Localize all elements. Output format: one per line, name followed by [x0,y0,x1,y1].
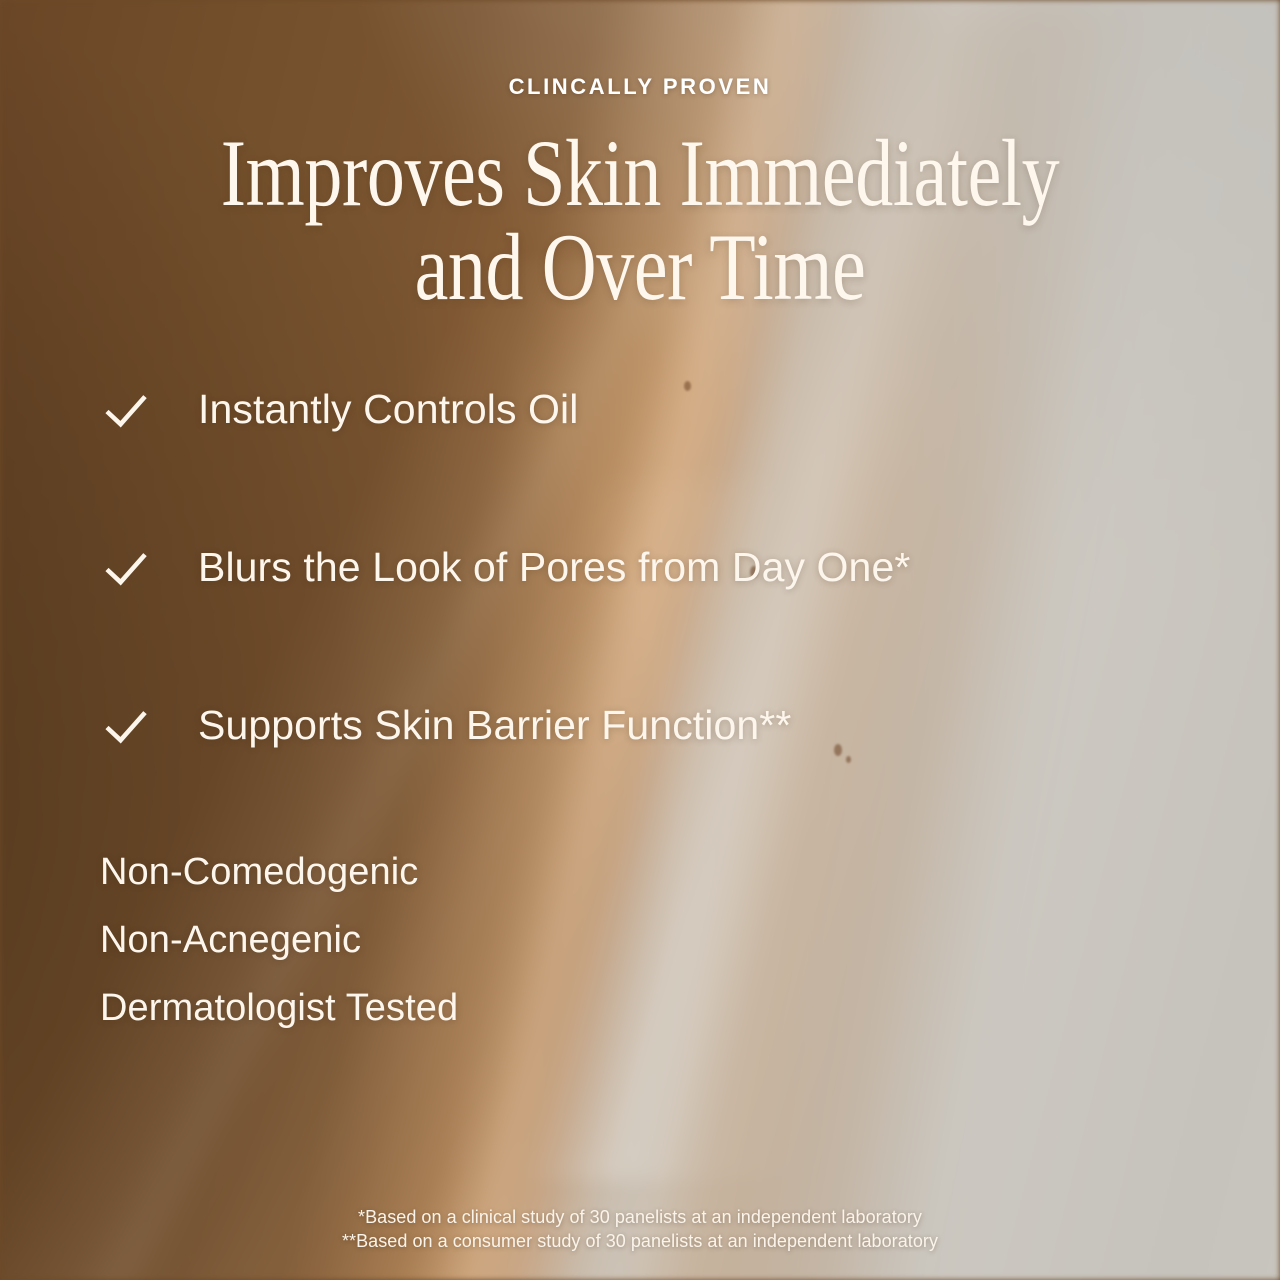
footnote: **Based on a consumer study of 30 paneli… [0,1231,1280,1252]
promo-graphic: CLINCALLY PROVEN Improves Skin Immediate… [0,0,1280,1280]
benefit-label: Blurs the Look of Pores from Day One* [198,544,910,591]
claim-item: Dermatologist Tested [100,987,1280,1030]
benefits-list: Instantly Controls OilBlurs the Look of … [0,386,1280,749]
checkmark-icon [103,387,149,433]
benefit-row: Supports Skin Barrier Function** [103,702,1280,749]
benefit-label: Supports Skin Barrier Function** [198,702,791,749]
benefit-row: Instantly Controls Oil [103,386,1280,433]
eyebrow-label: CLINCALLY PROVEN [0,74,1280,100]
claim-item: Non-Acnegenic [100,919,1280,962]
claim-item: Non-Comedogenic [100,851,1280,894]
checkmark-icon [103,545,149,591]
footnote: *Based on a clinical study of 30 panelis… [0,1207,1280,1228]
benefit-label: Instantly Controls Oil [198,386,578,433]
claims-list: Non-ComedogenicNon-AcnegenicDermatologis… [0,851,1280,1030]
checkmark-icon [103,703,149,749]
page-title: Improves Skin Immediately and Over Time [128,126,1152,314]
benefit-row: Blurs the Look of Pores from Day One* [103,544,1280,591]
footnotes: *Based on a clinical study of 30 panelis… [0,1207,1280,1252]
